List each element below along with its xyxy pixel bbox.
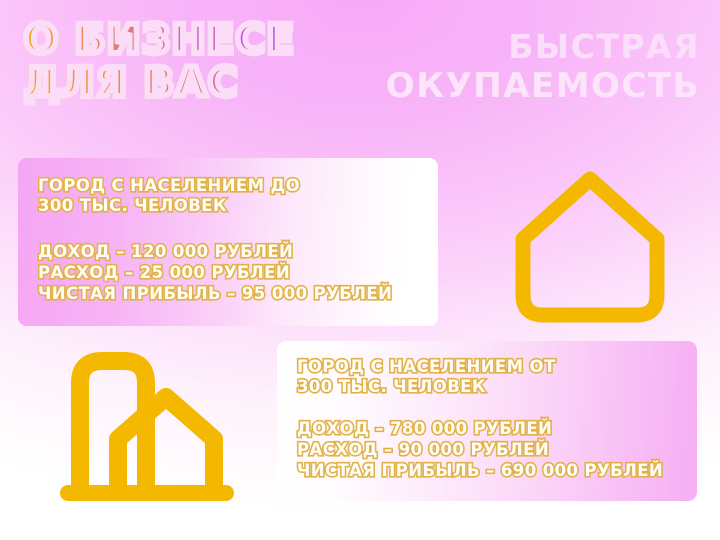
card-title-line-1: ГОРОД С НАСЕЛЕНИЕМ ДО [38, 176, 300, 195]
card-title: ГОРОД С НАСЕЛЕНИЕМ ДО 300 ТЫС. ЧЕЛОВЕК [38, 176, 418, 216]
card-title-line-1: ГОРОД С НАСЕЛЕНИЕМ ОТ [297, 357, 556, 376]
stat-net-profit: ЧИСТАЯ ПРИБЫЛЬ – 95 000 РУБЛЕЙ [38, 284, 418, 305]
card-title: ГОРОД С НАСЕЛЕНИЕМ ОТ 300 ТЫС. ЧЕЛОВЕК [297, 357, 677, 397]
headline-line-2: ДЛЯ ВАС [24, 65, 295, 102]
promo-poster: О БИЗНЕСЕ ДЛЯ ВАС БЫСТРАЯ ОКУПАЕМОСТЬ ГО… [0, 0, 720, 540]
city-buildings-icon [58, 343, 243, 515]
avito-logo-icon [626, 511, 645, 530]
card-stats: ДОХОД – 780 000 РУБЛЕЙ РАСХОД – 90 000 Р… [297, 419, 677, 481]
stat-net-profit: ЧИСТАЯ ПРИБЫЛЬ – 690 000 РУБЛЕЙ [297, 461, 677, 482]
avito-watermark-label: Avito [650, 508, 706, 532]
card-stats: ДОХОД – 120 000 РУБЛЕЙ РАСХОД – 25 000 Р… [38, 242, 418, 304]
card-title-line-2: 300 ТЫС. ЧЕЛОВЕК [297, 377, 486, 396]
stat-expense: РАСХОД – 25 000 РУБЛЕЙ [38, 263, 418, 284]
page-title: О БИЗНЕСЕ ДЛЯ ВАС [24, 22, 295, 102]
stat-expense: РАСХОД – 90 000 РУБЛЕЙ [297, 440, 677, 461]
stat-income: ДОХОД – 120 000 РУБЛЕЙ [38, 242, 418, 263]
info-card-large-city: ГОРОД С НАСЕЛЕНИЕМ ОТ 300 ТЫС. ЧЕЛОВЕК Д… [277, 341, 697, 501]
subheading-line-2: ОКУПАЕМОСТЬ [386, 69, 700, 103]
subheading: БЫСТРАЯ ОКУПАЕМОСТЬ [386, 30, 700, 103]
house-outline-icon [505, 163, 675, 333]
subheading-line-1: БЫСТРАЯ [386, 30, 700, 63]
info-card-small-city: ГОРОД С НАСЕЛЕНИЕМ ДО 300 ТЫС. ЧЕЛОВЕК Д… [18, 158, 438, 326]
stat-income: ДОХОД – 780 000 РУБЛЕЙ [297, 419, 677, 440]
headline-line-1: О БИЗНЕСЕ [24, 22, 295, 59]
card-title-line-2: 300 ТЫС. ЧЕЛОВЕК [38, 196, 227, 215]
avito-watermark: Avito [626, 508, 706, 532]
